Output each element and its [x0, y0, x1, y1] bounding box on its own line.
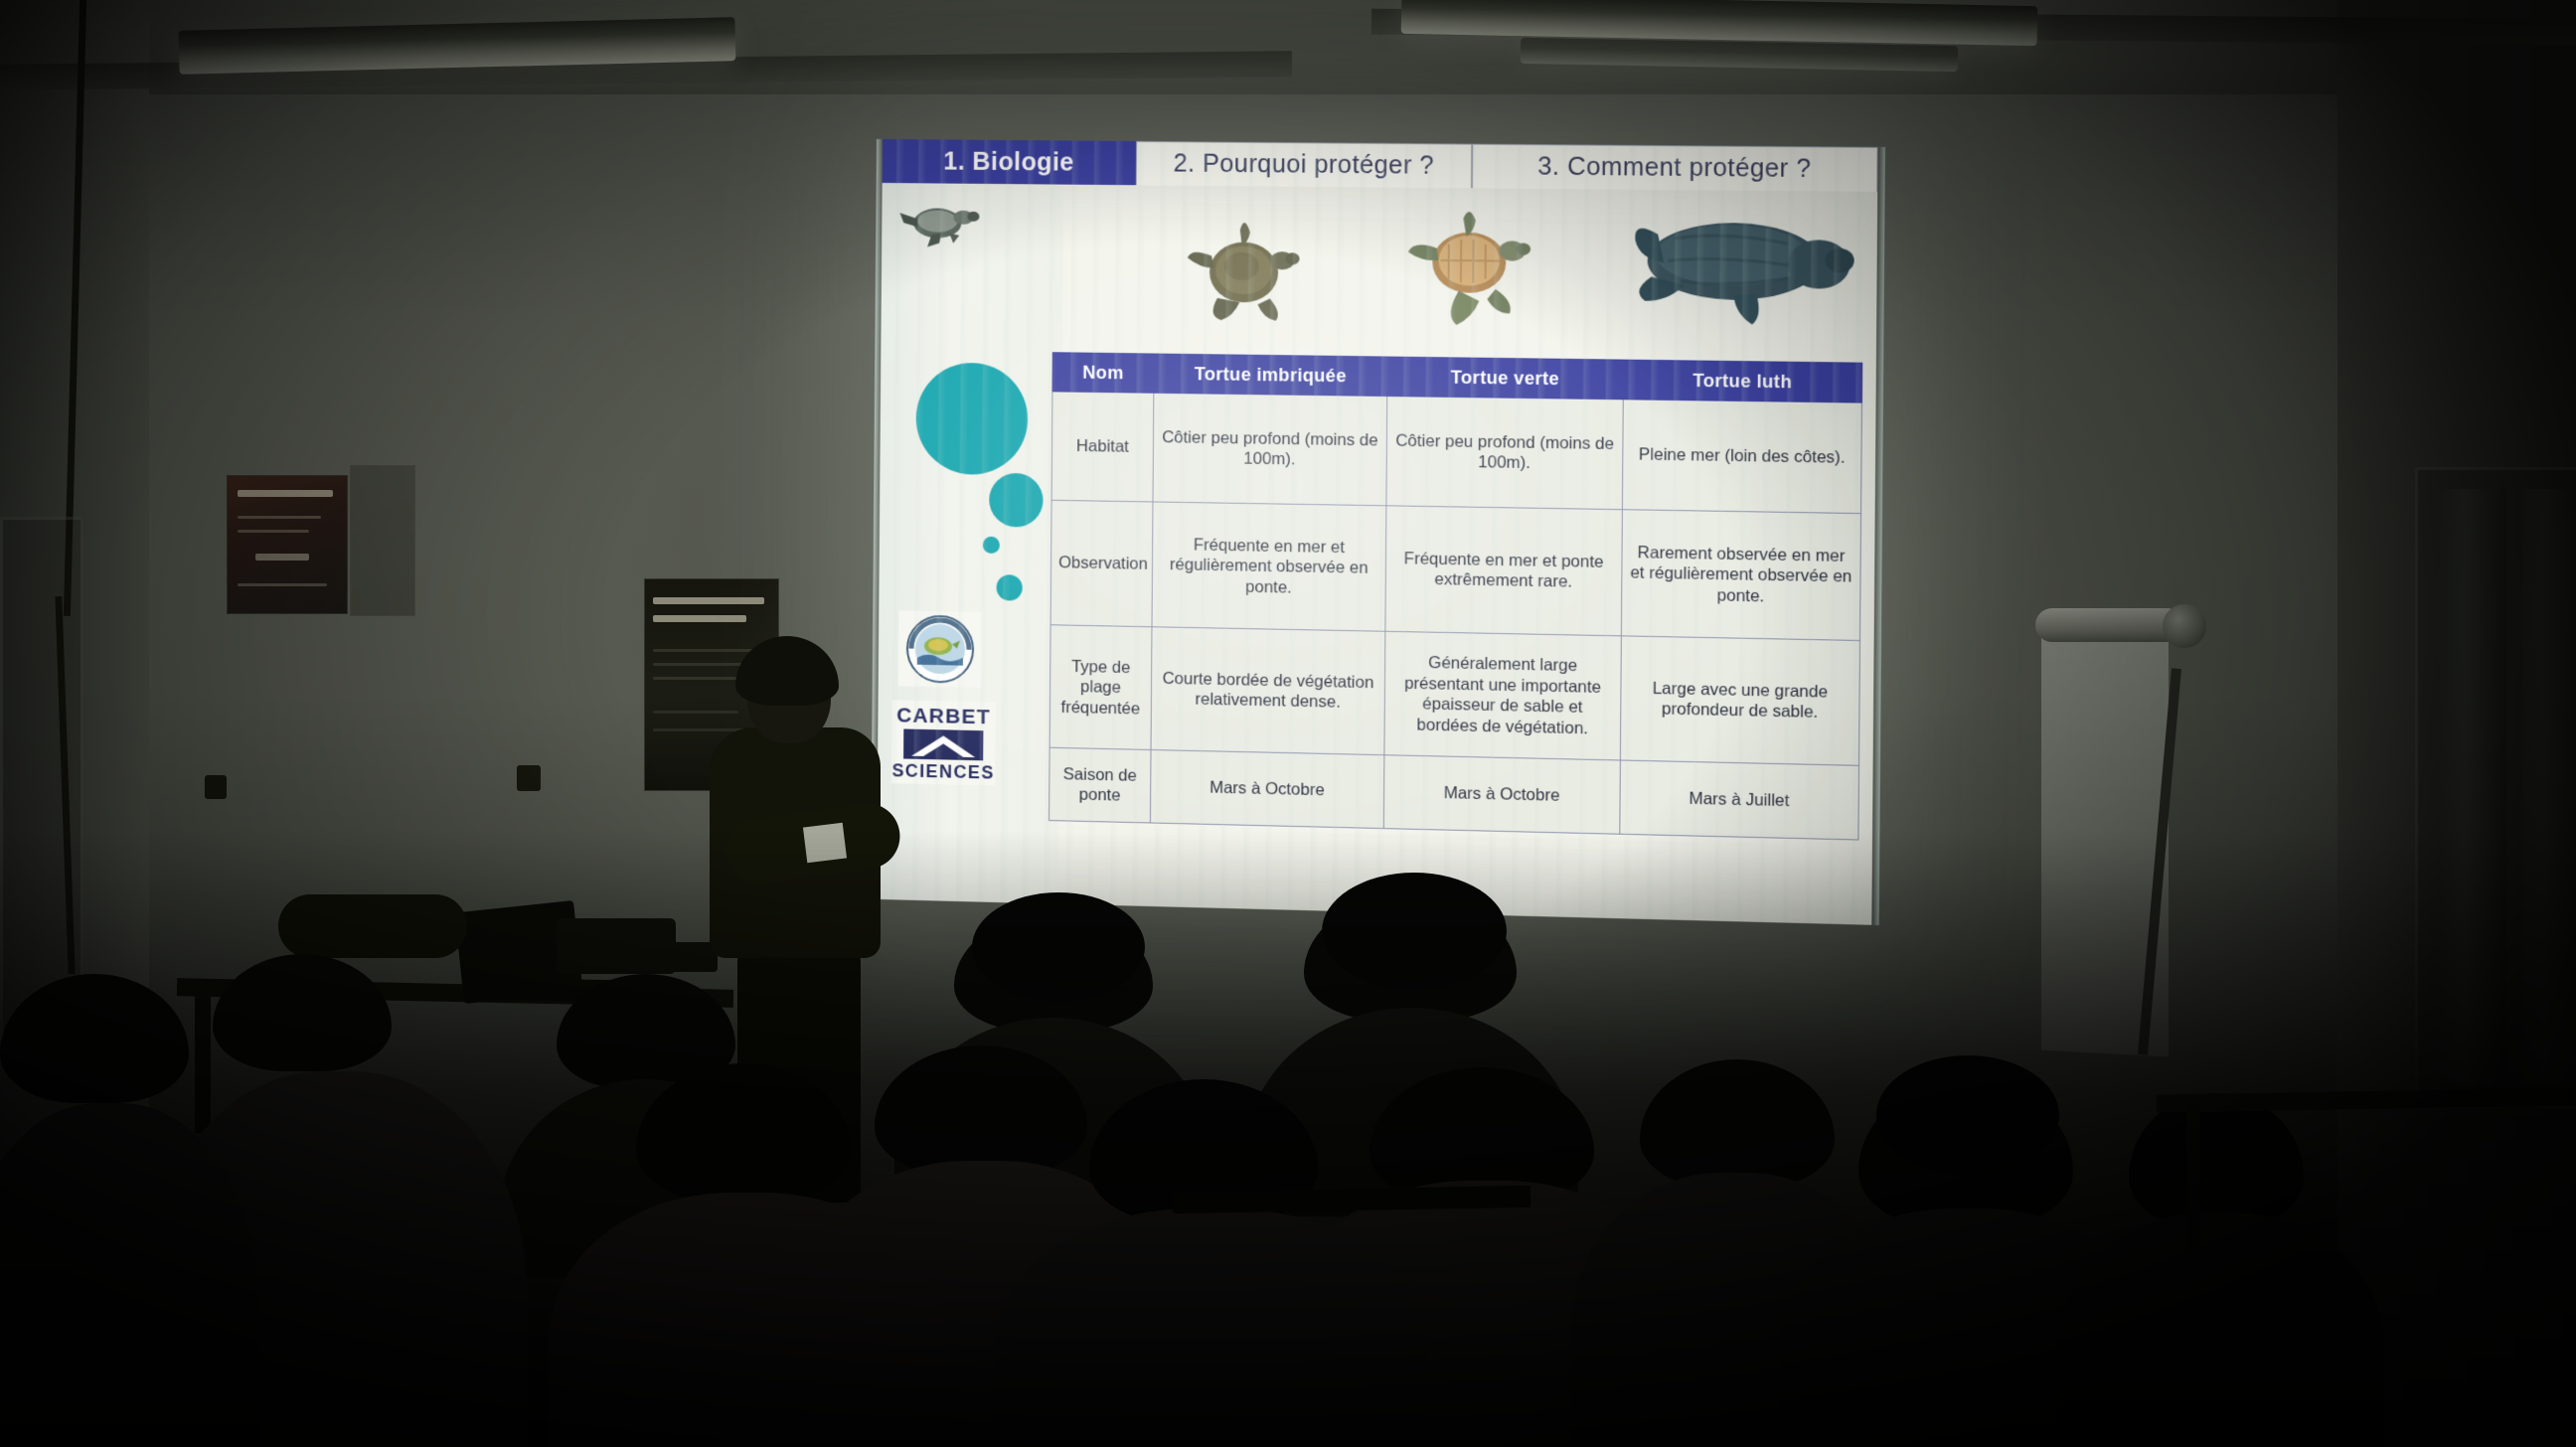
presenter-hair [735, 636, 839, 706]
cell-habitat-luth: Pleine mer (loin des côtes). [1622, 400, 1861, 514]
cell-observation-imbriquee: Fréquente en mer et régulièrement observ… [1152, 502, 1386, 631]
header-nom: Nom [1052, 353, 1154, 394]
header-tortue-imbriquee: Tortue imbriquée [1154, 354, 1387, 397]
header-tortue-luth: Tortue luth [1623, 360, 1861, 402]
turtle-hawksbill-photo [1181, 216, 1311, 329]
turtle-green-photo [1401, 206, 1545, 332]
tab-comment-proteger[interactable]: 3. Comment protéger ? [1472, 144, 1878, 192]
decor-circle-tiny [983, 537, 1000, 554]
row-label-habitat: Habitat [1051, 392, 1154, 502]
projection-screen: 1. Biologie 2. Pourquoi protéger ? 3. Co… [877, 139, 1878, 925]
table-row: Observation Fréquente en mer et régulièr… [1050, 501, 1860, 641]
wall-poster-1 [227, 475, 348, 614]
tab-biologie[interactable]: 1. Biologie [883, 139, 1136, 185]
decor-circle-medium [989, 473, 1044, 528]
turtle-leatherback-photo [1633, 206, 1859, 334]
table-body: Habitat Côtier peu profond (moins de 100… [1049, 392, 1862, 840]
cell-habitat-verte: Côtier peu profond (moins de 100m). [1386, 397, 1623, 510]
cell-saison-luth: Mars à Juillet [1620, 760, 1859, 840]
cell-plage-luth: Large avec une grande profondeur de sabl… [1620, 636, 1859, 765]
wall-poster-2 [350, 465, 415, 616]
row-label-observation: Observation [1050, 501, 1153, 627]
turtle-illustration-row [1181, 200, 1856, 336]
flipchart-roll-end [2163, 604, 2206, 648]
floor-shadow [0, 831, 2576, 1447]
wall-socket [517, 765, 541, 791]
row-label-type-de-plage: Type de plage fréquentée [1049, 625, 1152, 750]
table-row: Habitat Côtier peu profond (moins de 100… [1051, 392, 1861, 514]
classroom-scene: 1. Biologie 2. Pourquoi protéger ? 3. Co… [0, 0, 2576, 1447]
table-row: Type de plage fréquentée Courte bordée d… [1049, 625, 1859, 766]
cell-observation-luth: Rarement observée en mer et régulièremen… [1621, 510, 1860, 641]
turtle-comparison-table: Nom Tortue imbriquée Tortue verte Tortue… [1048, 352, 1862, 841]
decor-circle-small [997, 574, 1023, 601]
cell-plage-verte: Généralement large présentant une import… [1384, 632, 1621, 761]
mini-turtle-icon [897, 199, 983, 247]
tab-pourquoi-proteger[interactable]: 2. Pourquoi protéger ? [1136, 141, 1473, 188]
cell-saison-verte: Mars à Octobre [1383, 755, 1620, 835]
wall-socket-2 [205, 775, 227, 799]
cell-saison-imbriquee: Mars à Octobre [1150, 750, 1383, 829]
cell-plage-imbriquee: Courte bordée de végétation relativement… [1151, 627, 1385, 755]
row-label-saison-de-ponte: Saison de ponte [1049, 748, 1151, 824]
cell-observation-verte: Fréquente en mer et ponte extrêmement ra… [1385, 506, 1623, 636]
cell-habitat-imbriquee: Côtier peu profond (moins de 100m). [1153, 394, 1387, 507]
presentation-slide: 1. Biologie 2. Pourquoi protéger ? 3. Co… [877, 139, 1878, 925]
decor-circle-large [915, 362, 1028, 475]
header-tortue-verte: Tortue verte [1387, 357, 1624, 400]
